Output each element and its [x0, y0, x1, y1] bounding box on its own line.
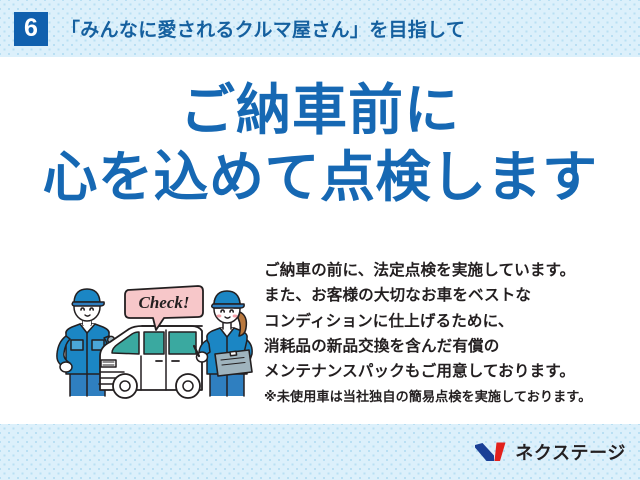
headline-line-1: ご納車前に: [0, 82, 640, 138]
body-line: 消耗品の新品交換を含んだ有償の: [264, 334, 624, 359]
header-band: 6 「みんなに愛されるクルマ屋さん」を目指して: [0, 0, 640, 57]
body-note: ※未使用車は当社独自の簡易点検を実施しております。: [264, 386, 624, 407]
header-title: 「みんなに愛されるクルマ屋さん」を目指して: [61, 15, 465, 42]
body-copy: ご納車の前に、法定点検を実施しています。 また、お客様の大切なお車をベストな コ…: [264, 258, 624, 407]
check-bubble-label: Check!: [139, 293, 190, 312]
header-content: 6 「みんなに愛されるクルマ屋さん」を目指して: [0, 0, 640, 57]
brand-name: ネクステージ: [515, 439, 626, 465]
headline-line-2: 心を込めて点検します: [0, 149, 640, 205]
body-line: コンディションに仕上げるために、: [264, 309, 624, 334]
section-number-badge: 6: [14, 12, 48, 46]
van-illustration: [99, 326, 202, 398]
body-line: また、お客様の大切なお車をベストな: [264, 283, 624, 308]
mechanics-illustration: Check!: [52, 268, 262, 408]
body-line: メンテナンスパックもご用意しております。: [264, 359, 624, 384]
footer-band: ネクステージ: [0, 424, 640, 480]
headline: ご納車前に 心を込めて点検します: [0, 82, 640, 205]
brand-logo: ネクステージ: [474, 439, 626, 465]
promo-panel: 6 「みんなに愛されるクルマ屋さん」を目指して ご納車前に 心を込めて点検します…: [0, 0, 640, 480]
nextage-n-mark-icon: [474, 441, 508, 463]
body-line: ご納車の前に、法定点検を実施しています。: [264, 258, 624, 283]
